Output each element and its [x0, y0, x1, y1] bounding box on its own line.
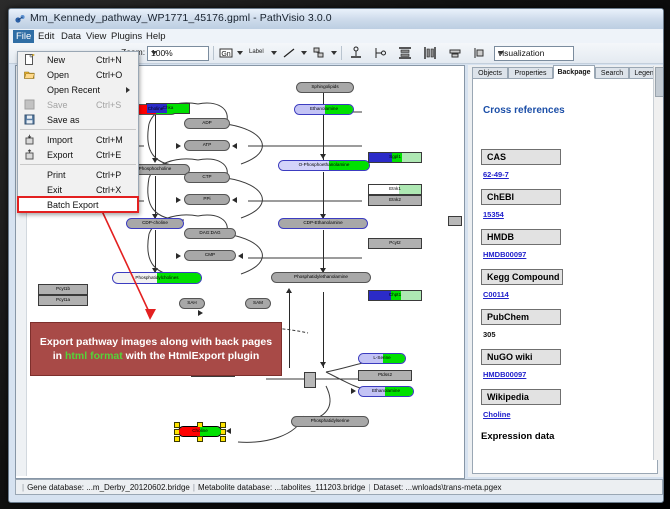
- toolbar-divider-2: [341, 46, 342, 60]
- expression-data-title: Expression data: [481, 431, 554, 442]
- menu-plugins[interactable]: Plugins: [108, 30, 145, 43]
- pathvisio-icon: [14, 13, 26, 25]
- node-lserine[interactable]: L-Serine: [358, 353, 406, 364]
- menu-item-import[interactable]: Import Ctrl+M: [18, 132, 138, 147]
- node-fill-lgreen: [402, 153, 421, 162]
- menu-item-save: Save Ctrl+S: [18, 97, 138, 112]
- node-chpt1[interactable]: Chpt1: [368, 290, 422, 301]
- export-icon: [24, 149, 35, 160]
- node-ppi[interactable]: PPi: [184, 194, 230, 205]
- toolbar-divider: [213, 46, 214, 60]
- node-ptdss2[interactable]: Ptdss2: [358, 370, 412, 381]
- common-height-icon[interactable]: [471, 45, 487, 61]
- cross-references-title: Cross references: [483, 105, 565, 116]
- folder-open-icon: [24, 69, 35, 80]
- scrollbar-thumb[interactable]: [655, 67, 664, 97]
- annotation-callout: Export pathway images along with back pa…: [30, 322, 282, 376]
- menu-divider-1: [20, 129, 136, 130]
- edge-ptdser-ptdeth: [289, 292, 290, 368]
- node-adp[interactable]: ADP: [184, 118, 230, 129]
- menubar: File Edit Data View Plugins Help: [9, 29, 663, 44]
- menu-item-batch-export[interactable]: Batch Export: [18, 197, 138, 212]
- xref-label-pubchem: PubChem: [481, 309, 561, 325]
- svg-text:Gn: Gn: [221, 51, 230, 58]
- pathvisio-window: Mm_Kennedy_pathway_WP1771_45176.gpml - P…: [8, 8, 664, 503]
- import-icon: [24, 134, 35, 145]
- arrowhead-ptdeth-up: [286, 288, 292, 293]
- xref-label-chebi: ChEBI: [481, 189, 561, 205]
- xref-value-cas[interactable]: 62-49-7: [483, 170, 509, 179]
- xref-value-hmdb[interactable]: HMDB00097: [483, 250, 526, 259]
- zoom-combo[interactable]: 100%: [147, 46, 209, 61]
- arrowhead-atp-left: [176, 143, 181, 149]
- node-fill-lgreen-3: [401, 291, 421, 300]
- node-cdpcholine[interactable]: CDP-choline: [126, 218, 184, 229]
- node-pcyt1a[interactable]: Pcyt1a: [38, 295, 88, 306]
- chevron-down-icon: [151, 51, 157, 55]
- xref-value-nugo[interactable]: HMDB00097: [483, 370, 526, 379]
- side-panel-tabs: Objects Properties Backpage Search Legen…: [472, 65, 664, 79]
- node-ethanolamine-top[interactable]: Ethanolamine: [294, 104, 354, 115]
- datanode-tool-icon[interactable]: Gn: [218, 45, 234, 61]
- node-etnk1[interactable]: Etnk1: [368, 184, 422, 195]
- edge-ptdeth-ptdser: [323, 292, 324, 368]
- xref-label-cas: CAS: [481, 149, 561, 165]
- node-fill-lgreen-2: [399, 185, 421, 194]
- arrowhead-ppi-left: [176, 197, 181, 203]
- arrowhead-ethanolamine-right: [351, 388, 356, 394]
- xref-label-wikipedia: Wikipedia: [481, 389, 561, 405]
- arrowhead-choline-selected: [226, 428, 231, 434]
- selection-handle-s[interactable]: [197, 436, 203, 442]
- visualization-value: visualization: [498, 48, 544, 58]
- visualization-combo[interactable]: visualization: [494, 46, 574, 61]
- menu-item-exit[interactable]: Exit Ctrl+X: [18, 182, 138, 197]
- menu-view[interactable]: View: [83, 30, 109, 43]
- xref-value-kegg[interactable]: C00114: [483, 290, 509, 299]
- node-etnk2[interactable]: Etnk2: [368, 195, 422, 206]
- node-cmp[interactable]: CMP: [184, 250, 236, 261]
- menu-item-open[interactable]: Open Ctrl+O: [18, 67, 138, 82]
- annotation-text-2: with the HtmlExport plugin: [123, 350, 260, 362]
- arrowhead-ppi-right: [232, 197, 237, 203]
- selection-handle-sw[interactable]: [174, 436, 180, 442]
- file-menu-dropdown: New Ctrl+N Open Ctrl+O Open Recent Save: [17, 51, 139, 213]
- screen: Mm_Kennedy_pathway_WP1771_45176.gpml - P…: [0, 0, 670, 509]
- node-ophosphoethanolamine[interactable]: O-Phosphoethanolamine: [278, 160, 370, 171]
- node-atp[interactable]: ATP: [184, 140, 230, 151]
- common-width-icon[interactable]: [447, 45, 463, 61]
- xref-label-nugo: NuGO wiki: [481, 349, 561, 365]
- selection-handle-se[interactable]: [220, 436, 226, 442]
- stack-horizontal-icon[interactable]: [422, 45, 438, 61]
- node-phosphatidylserine[interactable]: Phosphatidylserine: [291, 416, 369, 427]
- node-pcyt1b[interactable]: Pcyt1b: [38, 284, 88, 295]
- xref-label-hmdb: HMDB: [481, 229, 561, 245]
- menu-item-print[interactable]: Print Ctrl+P: [18, 167, 138, 182]
- arrowhead-pemt: [198, 310, 203, 316]
- stack-vertical-icon[interactable]: [397, 45, 413, 61]
- titlebar: Mm_Kennedy_pathway_WP1771_45176.gpml - P…: [9, 9, 663, 30]
- status-divider-2: |: [368, 483, 370, 492]
- xref-value-pubchem: 305: [483, 330, 496, 339]
- backpage-scrollbar[interactable]: [653, 66, 663, 460]
- anchor-stub-right[interactable]: [304, 372, 316, 388]
- chevron-down-icon-2: [498, 51, 504, 55]
- menu-file[interactable]: File: [13, 30, 34, 43]
- menu-item-save-as[interactable]: Save as: [18, 112, 138, 127]
- status-gene-db-value: ...m_Derby_20120602.bridge: [86, 483, 190, 492]
- save-disabled-icon: [24, 99, 35, 110]
- new-document-icon: [24, 54, 35, 65]
- node-choline-selected[interactable]: Choline: [178, 426, 222, 437]
- node-phosphatidylethanolamine[interactable]: Phosphatidylethanolamine: [271, 272, 371, 283]
- menu-item-open-recent[interactable]: Open Recent: [18, 82, 138, 97]
- status-metabolite-db-label: Metabolite database:: [198, 483, 272, 492]
- menu-item-export[interactable]: Export Ctrl+E: [18, 147, 138, 162]
- menu-edit[interactable]: Edit: [35, 30, 57, 43]
- node-sphingolipids[interactable]: Sphingolipids: [296, 82, 354, 93]
- side-panel: Objects Properties Backpage Search Legen…: [468, 65, 664, 477]
- window-title: Mm_Kennedy_pathway_WP1771_45176.gpml - P…: [30, 12, 332, 24]
- backpage-content: Cross references CAS 62-49-7 ChEBI 15354…: [472, 78, 658, 474]
- arrowhead-cmp-right: [238, 253, 243, 259]
- annotation-highlight: html format: [65, 350, 123, 362]
- statusbar: | Gene database: ...m_Derby_20120602.bri…: [15, 479, 663, 495]
- node-pcyt2[interactable]: Pcyt2: [368, 238, 422, 249]
- node-sgpl1[interactable]: Sgpl1: [368, 152, 422, 163]
- status-divider-0: |: [22, 483, 24, 492]
- label-dropdown-icon[interactable]: [271, 51, 277, 55]
- datanode-dropdown-icon[interactable]: [237, 51, 243, 55]
- xref-label-kegg: Kegg Compound: [481, 269, 563, 285]
- align-center-icon[interactable]: [372, 45, 388, 61]
- interaction-dropdown-icon[interactable]: [331, 51, 337, 55]
- arrowhead-ptdser: [320, 362, 326, 367]
- save-as-icon: [24, 114, 35, 125]
- xref-value-wikipedia[interactable]: Choline: [483, 410, 511, 419]
- status-dataset-label: Dataset:: [373, 483, 403, 492]
- menu-item-new[interactable]: New Ctrl+N: [18, 52, 138, 67]
- anchor-stub-edge[interactable]: [448, 216, 462, 226]
- node-ethanolamine-right[interactable]: Ethanolamine: [358, 386, 414, 397]
- menu-data[interactable]: Data: [58, 30, 84, 43]
- node-dagdag[interactable]: DAG:DAG: [184, 228, 236, 239]
- menu-divider-2: [20, 164, 136, 165]
- node-phosphatidylcholines[interactable]: Phosphatidylcholines: [112, 272, 202, 284]
- tab-backpage[interactable]: Backpage: [553, 65, 595, 79]
- submenu-arrow-icon: [126, 87, 130, 93]
- xref-value-chebi[interactable]: 15354: [483, 210, 504, 219]
- arrowhead-atp-right: [232, 143, 237, 149]
- node-sah[interactable]: SAH: [179, 298, 205, 309]
- node-sam[interactable]: SAM: [245, 298, 271, 309]
- align-top-icon[interactable]: [348, 45, 364, 61]
- line-tool-icon[interactable]: [281, 45, 297, 61]
- arrowhead-cmp-left: [176, 253, 181, 259]
- line-dropdown-icon[interactable]: [301, 51, 307, 55]
- status-metabolite-db-value: ...tabolites_111203.bridge: [274, 483, 365, 492]
- menu-help[interactable]: Help: [143, 30, 169, 43]
- status-gene-db-label: Gene database:: [27, 483, 84, 492]
- status-dataset-value: ...wnloads\trans-meta.pgex: [405, 483, 501, 492]
- interaction-tool-icon[interactable]: [311, 45, 327, 61]
- label-tool-label: Label: [249, 49, 264, 55]
- node-cdpethanolamine[interactable]: CDP-Ethanolamine: [278, 218, 368, 229]
- node-fill-blue-3: [369, 291, 391, 300]
- status-divider-1: |: [193, 483, 195, 492]
- node-ctp[interactable]: CTP: [184, 172, 230, 183]
